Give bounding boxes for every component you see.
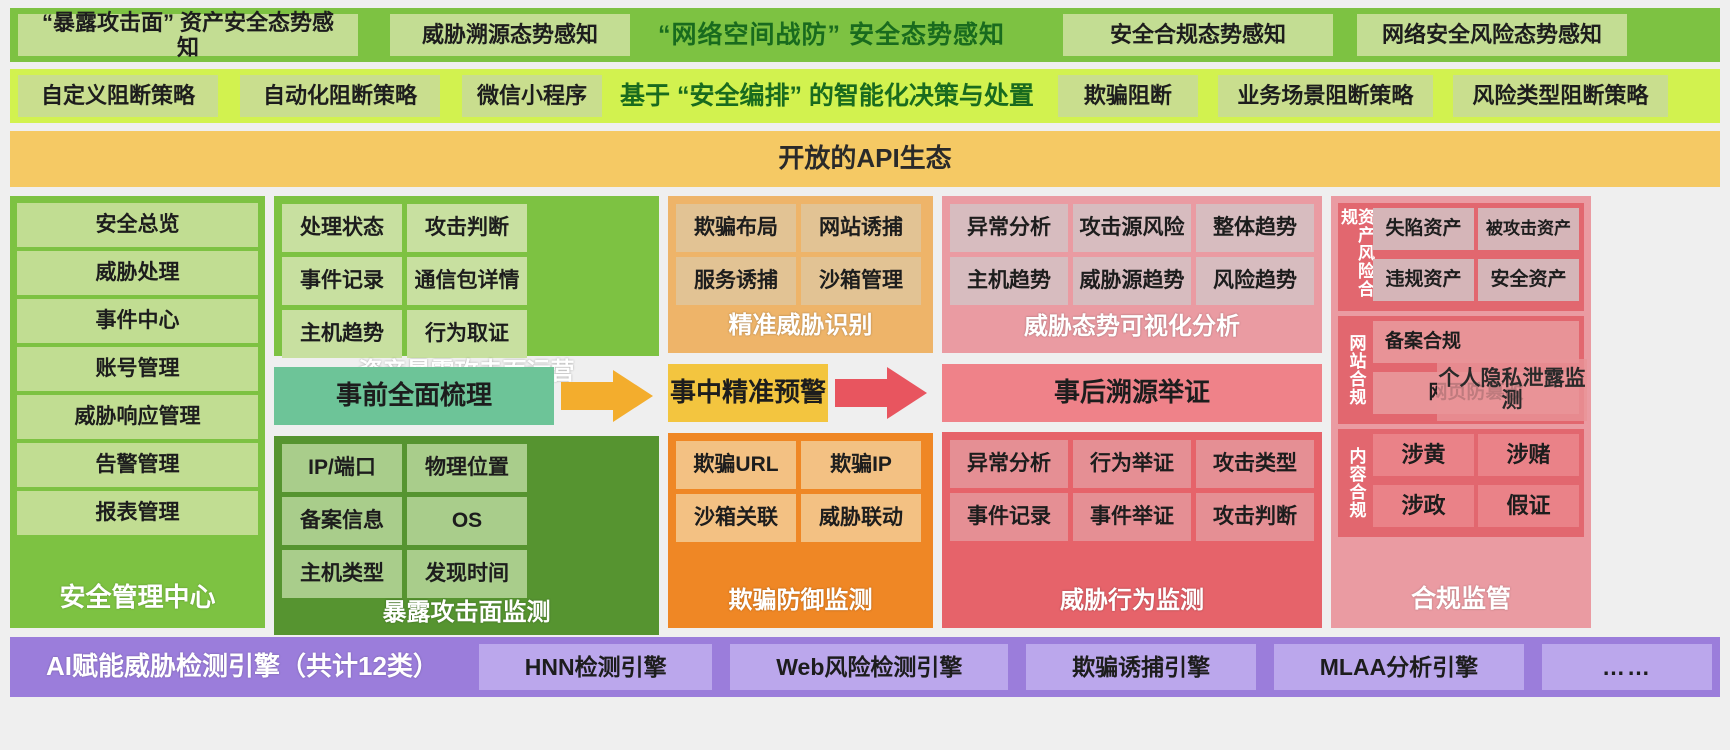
cell-behavior-forensics[interactable]: 行为取证 <box>407 310 527 358</box>
group-label-asset-risk-compliance: 资产风险合规 <box>1343 208 1369 306</box>
cell-grid: 欺骗布局 网站诱捕 服务诱捕 沙箱管理 <box>676 204 925 305</box>
cell-deception-layout[interactable]: 欺骗布局 <box>676 204 796 252</box>
cell-grid: 异常分析 行为举证 攻击类型 事件记录 事件举证 攻击判断 <box>950 440 1314 541</box>
compliance-footer-label: 合规监管 <box>1338 577 1584 621</box>
card-precise-threat-identification: 欺骗布局 网站诱捕 服务诱捕 沙箱管理 精准威胁识别 <box>668 196 933 353</box>
cell-political[interactable]: 涉政 <box>1373 485 1474 527</box>
cell-host-trend[interactable]: 主机趋势 <box>950 257 1068 305</box>
cell-grid: 失陷资产 被攻击资产 违规资产 安全资产 <box>1373 208 1579 306</box>
card-asset-exposure-operation: 处理状态 攻击判断 事件记录 通信包详情 主机趋势 行为取证 资产暴露攻击面运营 <box>274 196 659 356</box>
cell-event-record[interactable]: 事件记录 <box>282 257 402 305</box>
orchestration-band: 自定义阻断策略 自动化阻断策略 微信小程序 基于 “安全编排” 的智能化决策与处… <box>10 69 1720 123</box>
api-ecosystem-bar: 开放的API生态 <box>10 131 1720 187</box>
sidebar-item-account-management[interactable]: 账号管理 <box>17 347 258 391</box>
arrow-before-to-during <box>554 363 659 429</box>
stage-banner-before: 事前全面梳理 <box>274 367 554 425</box>
cell-sandbox-correlation[interactable]: 沙箱关联 <box>676 494 796 542</box>
ai-engine-bar: AI赋能威胁检测引擎（共计12类） HNN检测引擎 Web风险检测引擎 欺骗诱捕… <box>10 637 1720 697</box>
cell-noncompliant-assets[interactable]: 违规资产 <box>1373 259 1474 301</box>
stage-row-before: 事前全面梳理 <box>274 363 659 429</box>
cell-grid: 处理状态 攻击判断 事件记录 通信包详情 主机趋势 行为取证 <box>282 204 651 358</box>
card-title-precise-threat-identification: 精准威胁识别 <box>676 307 925 345</box>
cell-sandbox-management[interactable]: 沙箱管理 <box>801 257 921 305</box>
cell-anomaly-analysis[interactable]: 异常分析 <box>950 440 1068 488</box>
column-asset-exposure: 处理状态 攻击判断 事件记录 通信包详情 主机趋势 行为取证 资产暴露攻击面运营… <box>274 196 659 628</box>
sidebar-item-report-management[interactable]: 报表管理 <box>17 491 258 535</box>
card-threat-situation-visualization: 异常分析 攻击源风险 整体趋势 主机趋势 威胁源趋势 风险趋势 威胁态势可视化分… <box>942 196 1322 353</box>
sidebar-item-threat-handling[interactable]: 威胁处理 <box>17 251 258 295</box>
engine-more[interactable]: …… <box>1542 644 1712 690</box>
card-title-threat-situation-visualization: 威胁态势可视化分析 <box>950 307 1314 345</box>
perception-band: “暴露攻击面” 资产安全态势感知 威胁溯源态势感知 “网络空间战防” 安全态势感… <box>10 8 1720 62</box>
security-center-footer-label: 安全管理中心 <box>17 575 258 621</box>
engine-deception-decoy[interactable]: 欺骗诱捕引擎 <box>1026 644 1256 690</box>
right-arrow-icon <box>561 370 653 422</box>
tab-custom-block-policy[interactable]: 自定义阻断策略 <box>18 75 218 117</box>
tab-security-compliance[interactable]: 安全合规态势感知 <box>1063 14 1333 56</box>
cell-icp-filing-compliance[interactable]: 备案合规 <box>1373 321 1579 363</box>
cell-gambling[interactable]: 涉赌 <box>1478 434 1579 476</box>
cell-attack-type[interactable]: 攻击类型 <box>1196 440 1314 488</box>
group-label-content-compliance: 内容合规 <box>1343 434 1369 532</box>
sidebar-item-event-center[interactable]: 事件中心 <box>17 299 258 343</box>
cell-behavior-evidence[interactable]: 行为举证 <box>1073 440 1191 488</box>
orchestration-headline: 基于 “安全编排” 的智能化决策与处置 <box>602 69 1052 123</box>
column-threat-identification: 欺骗布局 网站诱捕 服务诱捕 沙箱管理 精准威胁识别 事中精准预警 欺骗URL <box>668 196 933 628</box>
tab-business-scenario-policy[interactable]: 业务场景阻断策略 <box>1218 75 1433 117</box>
cell-grid: IP/端口 物理位置 备案信息 OS 主机类型 发现时间 <box>282 444 651 598</box>
card-title-threat-behavior-monitoring: 威胁行为监测 <box>950 582 1314 620</box>
tab-wechat-miniprogram[interactable]: 微信小程序 <box>462 75 602 117</box>
group-website-compliance: 网站合规 备案合规 网页防篡改 个人隐私泄露监测 <box>1338 316 1584 424</box>
cell-physical-location[interactable]: 物理位置 <box>407 444 527 492</box>
arrow-during-to-after <box>828 360 933 426</box>
sidebar-item-alert-management[interactable]: 告警管理 <box>17 443 258 487</box>
card-title-exposure-monitoring: 暴露攻击面监测 <box>282 598 651 627</box>
tab-exposed-attack-surface[interactable]: “暴露攻击面” 资产安全态势感知 <box>18 14 358 56</box>
cell-event-record[interactable]: 事件记录 <box>950 493 1068 541</box>
cell-compromised-assets[interactable]: 失陷资产 <box>1373 208 1474 250</box>
architecture-diagram: “暴露攻击面” 资产安全态势感知 威胁溯源态势感知 “网络空间战防” 安全态势感… <box>0 0 1730 750</box>
cell-secure-assets[interactable]: 安全资产 <box>1478 259 1579 301</box>
cell-website-decoy[interactable]: 网站诱捕 <box>801 204 921 252</box>
cell-risk-trend[interactable]: 风险趋势 <box>1196 257 1314 305</box>
security-management-center: 安全总览 威胁处理 事件中心 账号管理 威胁响应管理 告警管理 报表管理 安全管… <box>10 196 265 628</box>
cell-host-trend[interactable]: 主机趋势 <box>282 310 402 358</box>
sidebar-item-threat-response[interactable]: 威胁响应管理 <box>17 395 258 439</box>
tab-auto-block-policy[interactable]: 自动化阻断策略 <box>240 75 440 117</box>
tab-network-risk[interactable]: 网络安全风险态势感知 <box>1357 14 1627 56</box>
tab-threat-tracing[interactable]: 威胁溯源态势感知 <box>390 14 630 56</box>
engine-mlaa[interactable]: MLAA分析引擎 <box>1274 644 1524 690</box>
cell-anomaly-analysis[interactable]: 异常分析 <box>950 204 1068 252</box>
group-content-compliance: 内容合规 涉黄 涉赌 涉政 假证 <box>1338 429 1584 537</box>
card-deception-defense-monitoring: 欺骗URL 欺骗IP 沙箱关联 威胁联动 欺骗防御监测 <box>668 433 933 628</box>
cell-attacked-assets[interactable]: 被攻击资产 <box>1478 208 1579 250</box>
stage-row-after: 事后溯源举证 <box>942 360 1322 425</box>
cell-privacy-leak-monitoring[interactable]: 个人隐私泄露监测 <box>1437 359 1587 421</box>
cell-packet-detail[interactable]: 通信包详情 <box>407 257 527 305</box>
cell-forged-documents[interactable]: 假证 <box>1478 485 1579 527</box>
cell-grid: 欺骗URL 欺骗IP 沙箱关联 威胁联动 <box>676 441 925 542</box>
cell-event-evidence[interactable]: 事件举证 <box>1073 493 1191 541</box>
cell-grid: 备案合规 网页防篡改 个人隐私泄露监测 <box>1373 321 1579 419</box>
group-label-website-compliance: 网站合规 <box>1343 321 1369 419</box>
cell-threat-linkage[interactable]: 威胁联动 <box>801 494 921 542</box>
card-exposure-monitoring: IP/端口 物理位置 备案信息 OS 主机类型 发现时间 暴露攻击面监测 <box>274 436 659 635</box>
sidebar-item-overview[interactable]: 安全总览 <box>17 203 258 247</box>
cell-pornography[interactable]: 涉黄 <box>1373 434 1474 476</box>
cell-attack-judgement[interactable]: 攻击判断 <box>1196 493 1314 541</box>
cell-ip-port[interactable]: IP/端口 <box>282 444 402 492</box>
cell-grid: 异常分析 攻击源风险 整体趋势 主机趋势 威胁源趋势 风险趋势 <box>950 204 1314 305</box>
cell-attack-judgement[interactable]: 攻击判断 <box>407 204 527 252</box>
cell-grid: 涉黄 涉赌 涉政 假证 <box>1373 434 1579 532</box>
cell-threat-source-trend[interactable]: 威胁源趋势 <box>1073 257 1191 305</box>
cell-host-type[interactable]: 主机类型 <box>282 550 402 598</box>
ai-engine-lead-label: AI赋能威胁检测引擎（共计12类） <box>18 652 461 682</box>
card-title-deception-defense-monitoring: 欺骗防御监测 <box>676 582 925 620</box>
cell-processing-status[interactable]: 处理状态 <box>282 204 402 252</box>
stage-banner-after: 事后溯源举证 <box>942 364 1322 422</box>
cell-overall-trend[interactable]: 整体趋势 <box>1196 204 1314 252</box>
tab-fraud-block[interactable]: 欺骗阻断 <box>1058 75 1198 117</box>
tab-risk-type-policy[interactable]: 风险类型阻断策略 <box>1453 75 1668 117</box>
perception-headline: “网络空间战防” 安全态势感知 <box>630 8 1033 62</box>
stage-row-during: 事中精准预警 <box>668 360 933 426</box>
right-arrow-icon <box>835 367 927 419</box>
column-threat-visualization: 异常分析 攻击源风险 整体趋势 主机趋势 威胁源趋势 风险趋势 威胁态势可视化分… <box>942 196 1322 628</box>
main-grid: 安全总览 威胁处理 事件中心 账号管理 威胁响应管理 告警管理 报表管理 安全管… <box>10 196 1720 628</box>
cell-discovery-time[interactable]: 发现时间 <box>407 550 527 598</box>
group-asset-risk-compliance: 资产风险合规 失陷资产 被攻击资产 违规资产 安全资产 <box>1338 203 1584 311</box>
cell-fraud-url[interactable]: 欺骗URL <box>676 441 796 489</box>
cell-attack-source-risk[interactable]: 攻击源风险 <box>1073 204 1191 252</box>
cell-icp-record-info[interactable]: 备案信息 <box>282 497 402 545</box>
engine-hnn[interactable]: HNN检测引擎 <box>479 644 713 690</box>
cell-os[interactable]: OS <box>407 497 527 545</box>
column-compliance-supervision: 资产风险合规 失陷资产 被攻击资产 违规资产 安全资产 网站合规 备案合规 网页… <box>1331 196 1591 628</box>
cell-service-decoy[interactable]: 服务诱捕 <box>676 257 796 305</box>
cell-fraud-ip[interactable]: 欺骗IP <box>801 441 921 489</box>
card-threat-behavior-monitoring: 异常分析 行为举证 攻击类型 事件记录 事件举证 攻击判断 威胁行为监测 <box>942 432 1322 628</box>
stage-banner-during: 事中精准预警 <box>668 364 828 422</box>
engine-web-risk[interactable]: Web风险检测引擎 <box>730 644 1008 690</box>
